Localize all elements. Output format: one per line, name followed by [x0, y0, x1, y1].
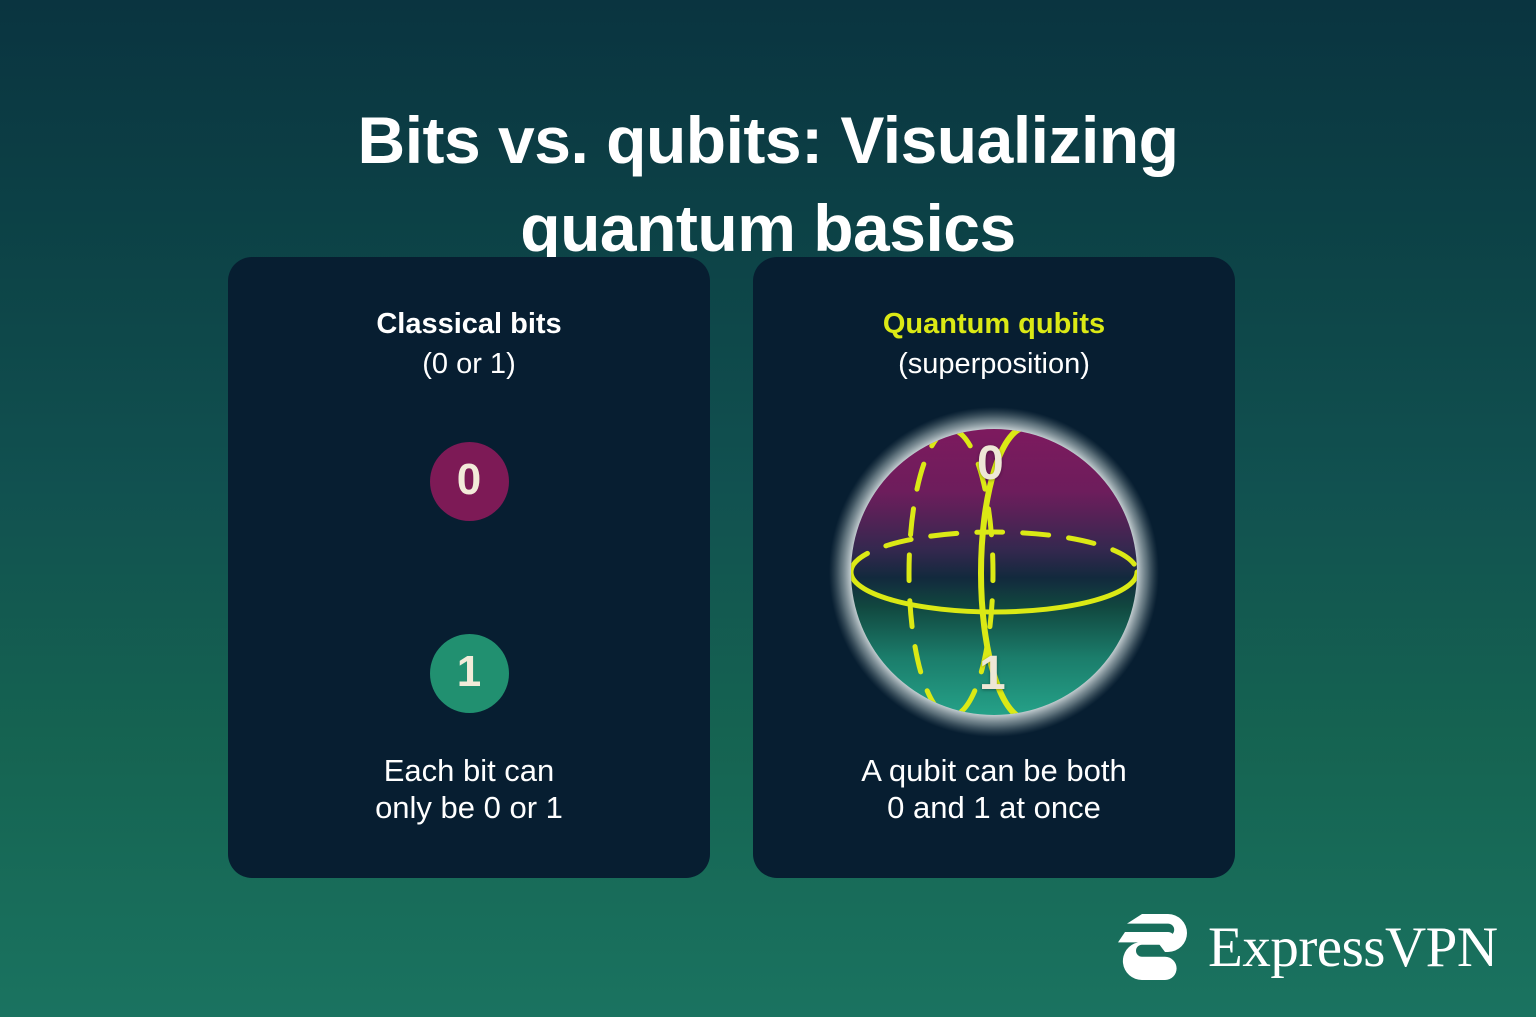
card-classical-bits-footer-line-2: only be 0 or 1 [228, 789, 710, 826]
card-quantum-qubits-header: Quantum qubits (superposition) [753, 304, 1235, 384]
brand-logo: ExpressVPN [1112, 912, 1498, 982]
card-classical-bits-footer: Each bit can only be 0 or 1 [228, 752, 710, 826]
bit-circle-one-label: 1 [457, 650, 481, 694]
infographic-canvas: Bits vs. qubits: Visualizing quantum bas… [0, 0, 1536, 1017]
sphere-pole-label-one: 1 [979, 650, 1006, 698]
bloch-sphere-diagram: 0 1 [829, 407, 1159, 737]
card-classical-bits-footer-line-1: Each bit can [228, 752, 710, 789]
card-classical-bits-subheading: (0 or 1) [228, 344, 710, 384]
card-classical-bits-header: Classical bits (0 or 1) [228, 304, 710, 384]
card-classical-bits-heading: Classical bits [228, 304, 710, 344]
bit-circle-zero-label: 0 [457, 458, 481, 502]
card-quantum-qubits: Quantum qubits (superposition) [753, 257, 1235, 878]
page-title: Bits vs. qubits: Visualizing quantum bas… [0, 96, 1536, 272]
bit-circle-zero: 0 [430, 442, 509, 521]
sphere-pole-label-zero: 0 [977, 440, 1004, 488]
card-quantum-qubits-subheading: (superposition) [753, 344, 1235, 384]
card-quantum-qubits-footer-line-1: A qubit can be both [753, 752, 1235, 789]
bit-circle-one: 1 [430, 634, 509, 713]
expressvpn-e-logo-icon [1112, 912, 1188, 982]
page-title-line-1: Bits vs. qubits: Visualizing [0, 96, 1536, 184]
card-quantum-qubits-footer: A qubit can be both 0 and 1 at once [753, 752, 1235, 826]
brand-name: ExpressVPN [1208, 919, 1498, 976]
card-classical-bits: Classical bits (0 or 1) 0 1 Each bit can… [228, 257, 710, 878]
card-quantum-qubits-heading: Quantum qubits [753, 304, 1235, 344]
card-quantum-qubits-footer-line-2: 0 and 1 at once [753, 789, 1235, 826]
